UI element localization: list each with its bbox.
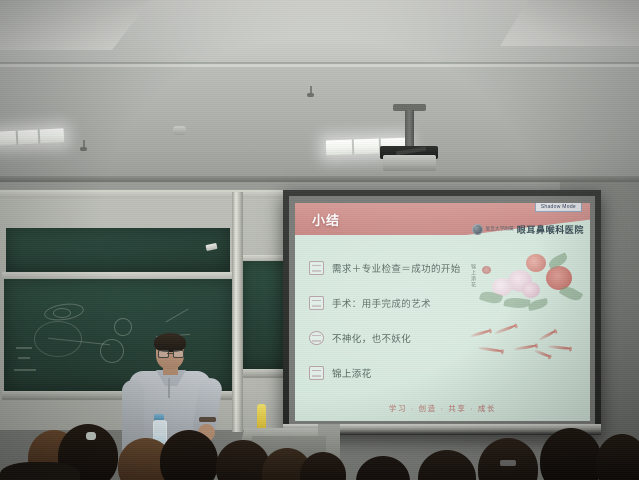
chalk-drawing-circle: [53, 308, 71, 318]
presenter-shirt-placket: [168, 378, 170, 398]
chalk-drawing-text-3: [14, 369, 36, 371]
soffit-lip: [0, 64, 639, 67]
logo-hospital-name: 眼耳鼻喉科医院: [517, 223, 584, 236]
smoke-detector: [173, 126, 186, 135]
peony-and-koi-painting: 锦上添花: [464, 248, 582, 378]
hair-clip: [86, 432, 96, 440]
peony-petal: [522, 282, 540, 298]
leaf: [559, 283, 584, 304]
peony-petal: [526, 254, 546, 272]
board-rail-top: [0, 190, 300, 198]
koi-fish: [478, 346, 502, 353]
koi-fish: [470, 330, 490, 338]
ceiling-projector: [383, 155, 436, 171]
projector-mount-pole: [405, 110, 414, 150]
hospital-logo: 复旦大学附属 眼耳鼻喉科医院: [472, 223, 584, 236]
flower-icon: [309, 366, 324, 380]
ceiling-bevel-right: [500, 0, 639, 46]
logo-affiliation-text: 复旦大学附属: [486, 227, 514, 232]
eyeglasses-icon: [158, 350, 182, 356]
bullet-text: 需求＋专业检查＝成功的开始: [332, 261, 461, 275]
shadow-mode-badge[interactable]: Shadow Mode: [535, 203, 582, 212]
bullet-text: 锦上添花: [332, 366, 372, 380]
koi-fish: [514, 344, 536, 350]
chalk-drawing-text-1: [16, 347, 32, 349]
bullet-text: 不神化，也不妖化: [332, 331, 411, 345]
magnifier-icon: [309, 261, 324, 275]
leaf: [503, 296, 530, 310]
slide-title: 小结: [312, 210, 340, 229]
koi-fish: [494, 325, 516, 335]
lecture-hall-photo: 小结 Shadow Mode 复旦大学附属 眼耳鼻喉科医院 需求＋专业检查＝成功…: [0, 0, 639, 480]
chalk-eraser: [205, 243, 217, 251]
koi-fish: [548, 344, 570, 350]
green-chalkboard-upper: [6, 228, 230, 272]
ceiling-soffit: [0, 64, 639, 182]
peony-bud: [482, 266, 491, 274]
chalk-drawing-line-3: [165, 309, 188, 323]
audience-shoulder: [0, 462, 80, 480]
person-icon: [309, 331, 324, 345]
sprinkler-head-right: [307, 86, 314, 98]
logo-emblem-icon: [472, 224, 483, 235]
presentation-slide[interactable]: 小结 Shadow Mode 复旦大学附属 眼耳鼻喉科医院 需求＋专业检查＝成功…: [295, 203, 590, 421]
calligraphy-text: 锦上添花: [466, 264, 476, 288]
hands-icon: [309, 296, 324, 310]
koi-fish: [538, 330, 555, 341]
wristwatch: [199, 417, 216, 422]
board-divider-post: [232, 192, 243, 432]
slide-footer-text: 学习 · 创造 · 共享 · 成长: [295, 403, 590, 414]
chalk-drawing-text-2: [18, 357, 30, 359]
koi-fish: [534, 349, 550, 358]
bullet-text: 手术：用手完成的艺术: [332, 296, 431, 310]
ceiling-bevel-left: [0, 0, 150, 50]
eyeglasses-audience-icon: [500, 460, 516, 466]
board-rail-middle: [2, 272, 232, 279]
ceiling: [0, 0, 639, 66]
chalk-drawing-circle-3: [114, 318, 132, 336]
sprinkler-head-left: [80, 140, 87, 152]
